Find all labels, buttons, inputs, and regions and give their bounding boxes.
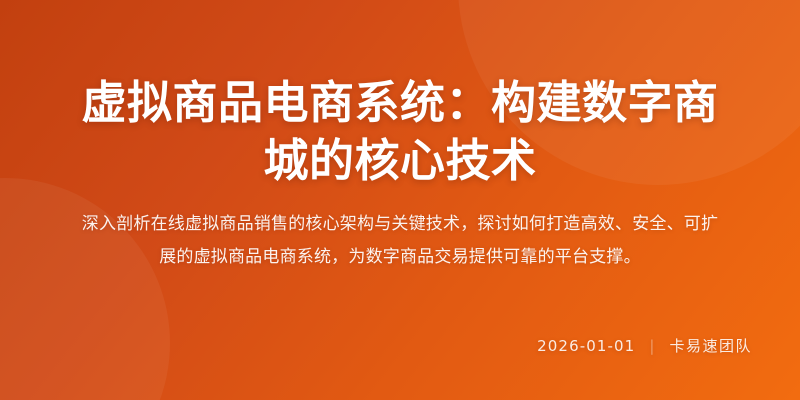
page-subtitle: 深入剖析在线虚拟商品销售的核心架构与关键技术，探讨如何打造高效、安全、可扩展的虚…	[76, 208, 724, 274]
team-name: 卡易速团队	[669, 335, 752, 356]
footer-separator: |	[649, 337, 655, 355]
title-line-2: 城的核心技术	[263, 134, 536, 187]
banner-footer: 2026-01-01 | 卡易速团队	[537, 335, 752, 356]
publish-date: 2026-01-01	[537, 337, 635, 355]
page-title: 虚拟商品电商系统：构建数字商 城的核心技术	[55, 74, 745, 190]
title-line-1: 虚拟商品电商系统：构建数字商	[81, 76, 718, 129]
hero-banner: 虚拟商品电商系统：构建数字商 城的核心技术 深入剖析在线虚拟商品销售的核心架构与…	[0, 0, 800, 400]
